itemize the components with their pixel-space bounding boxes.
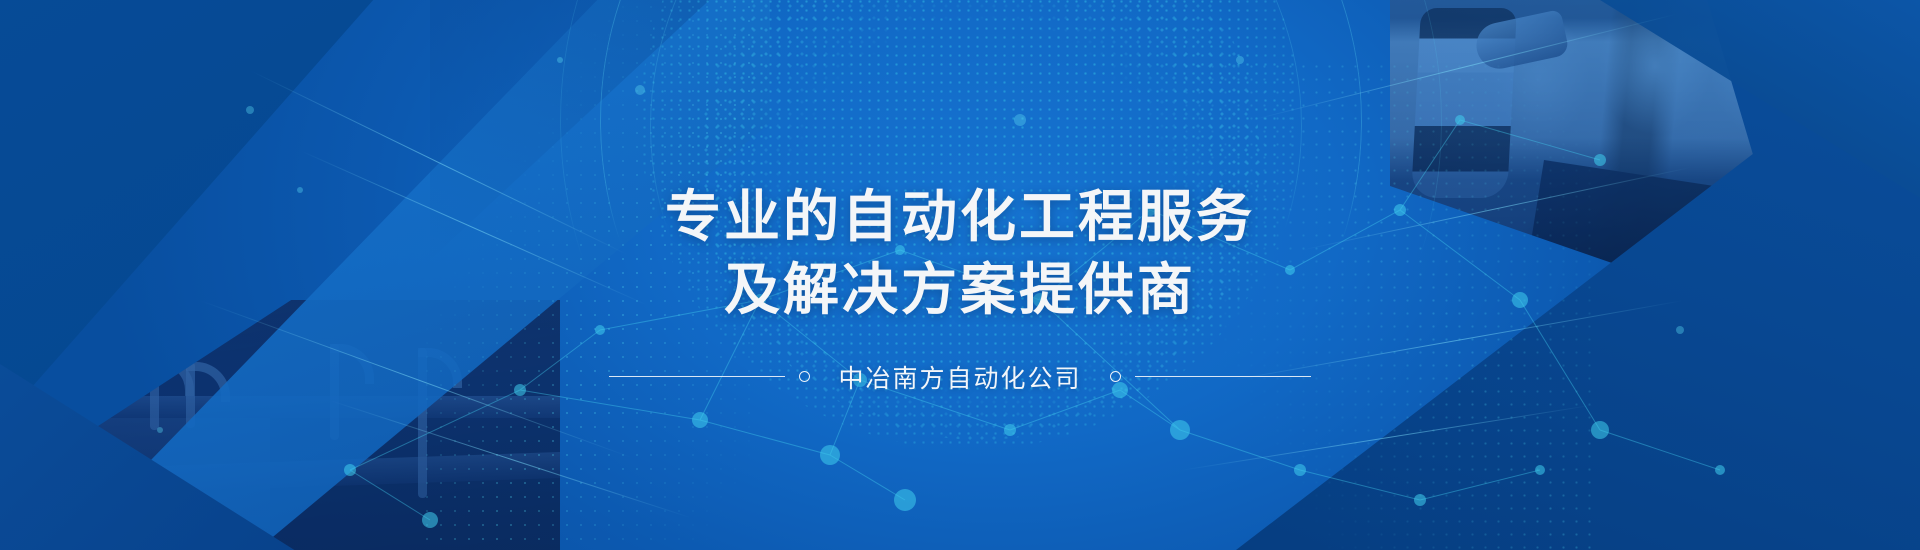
headline-line-2: 及解决方案提供商 xyxy=(665,254,1255,327)
decor-line-left xyxy=(609,376,785,377)
banner-content: 专业的自动化工程服务 及解决方案提供商 中冶南方自动化公司 xyxy=(0,0,1920,550)
decor-circle-left-icon xyxy=(799,371,810,382)
page-title: 专业的自动化工程服务 及解决方案提供商 xyxy=(665,181,1255,327)
company-name: 中冶南方自动化公司 xyxy=(824,359,1095,395)
subtitle-row: 中冶南方自动化公司 xyxy=(609,359,1310,395)
decor-circle-right-icon xyxy=(1110,371,1121,382)
decor-line-right xyxy=(1135,376,1311,377)
hero-banner: 专业的自动化工程服务 及解决方案提供商 中冶南方自动化公司 xyxy=(0,0,1920,550)
headline-line-1: 专业的自动化工程服务 xyxy=(665,185,1255,248)
